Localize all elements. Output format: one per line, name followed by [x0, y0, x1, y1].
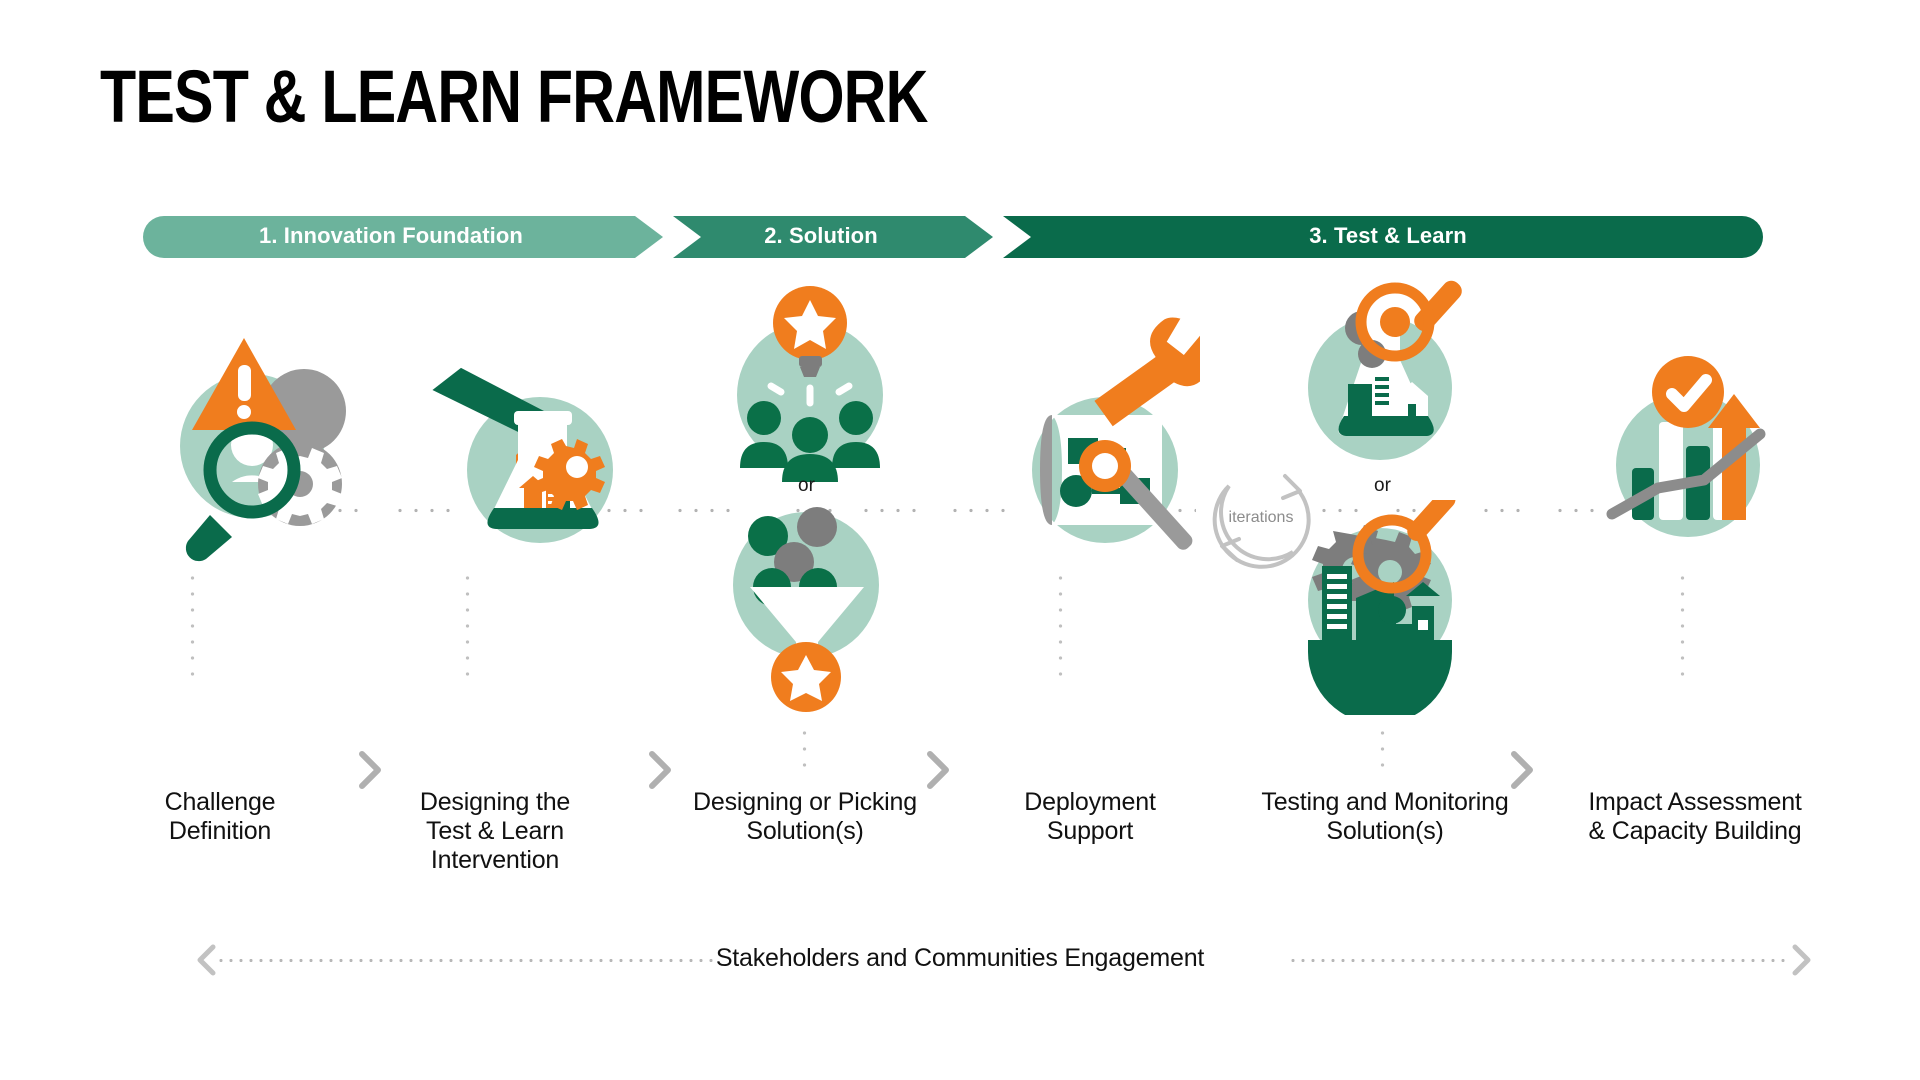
caption-testing-monitoring: Testing and MonitoringSolution(s): [1225, 788, 1545, 846]
page-title: TEST & LEARN FRAMEWORK: [100, 58, 928, 136]
or-label-testing: or: [1374, 475, 1391, 497]
step-connector-5: [1380, 725, 1385, 769]
step-icon-designing-picking-solutions[interactable]: or: [718, 270, 898, 700]
chevron-right-icon-1: [358, 750, 384, 790]
step-icon-challenge-definition[interactable]: [140, 270, 360, 700]
flow-dots-12: [1552, 508, 1604, 513]
step-icon-designing-intervention[interactable]: [420, 270, 630, 700]
process-flow: or: [0, 270, 1920, 700]
warning-magnifier-icon: [140, 270, 360, 570]
footer-label: Stakeholders and Communities Engagement: [716, 944, 1204, 973]
caption-designing-picking-solutions: Designing or PickingSolution(s): [660, 788, 950, 846]
flask-magnifier-icon: [1300, 260, 1490, 475]
arrow-left-icon: [196, 944, 218, 976]
city-gears-magnifier-icon: [1300, 500, 1490, 715]
phase-chip-2-label: 2. Solution: [764, 223, 878, 249]
phase-chip-1[interactable]: 1. Innovation Foundation: [143, 216, 663, 258]
step-connector-4: [1058, 570, 1063, 676]
blueprint-tools-icon: [1010, 270, 1200, 570]
chevron-right-icon-2: [648, 750, 674, 790]
footer-dots-right: [1288, 958, 1788, 963]
arrow-right-icon: [1790, 944, 1812, 976]
caption-impact-assessment: Impact Assessment& Capacity Building: [1550, 788, 1840, 846]
bar-chart-growth-icon: [1600, 270, 1790, 570]
caption-challenge-definition: ChallengeDefinition: [110, 788, 330, 846]
funnel-star-icon: [718, 502, 898, 717]
footer-dots-left: [216, 958, 716, 963]
caption-deployment-support: DeploymentSupport: [985, 788, 1195, 846]
step-connector-2: [465, 570, 470, 676]
phase-chip-3-label: 3. Test & Learn: [1309, 223, 1467, 249]
slide-canvas: TEST & LEARN FRAMEWORK 1. Innovation Fou…: [0, 0, 1920, 1080]
paintbrush-flask-icon: [420, 270, 630, 570]
step-connector-1: [190, 570, 195, 676]
flow-dots-7: [947, 508, 1007, 513]
phase-chip-3[interactable]: 3. Test & Learn: [1003, 216, 1763, 258]
caption-designing-intervention: Designing theTest & LearnIntervention: [385, 788, 605, 875]
engagement-footer: Stakeholders and Communities Engagement: [0, 930, 1920, 990]
or-label-solutions: or: [798, 475, 815, 497]
chevron-right-icon-3: [926, 750, 952, 790]
lightbulb-people-icon: [718, 270, 898, 485]
phase-chip-2[interactable]: 2. Solution: [673, 216, 993, 258]
step-connector-3: [802, 725, 807, 769]
step-connector-6: [1680, 570, 1685, 676]
step-icon-testing-monitoring[interactable]: or: [1300, 270, 1490, 700]
phase-chip-1-label: 1. Innovation Foundation: [259, 223, 523, 249]
phase-banner: 1. Innovation Foundation 2. Solution 3. …: [143, 216, 1763, 258]
step-icon-deployment-support[interactable]: [1010, 270, 1200, 700]
chevron-right-icon-4: [1510, 750, 1536, 790]
step-icon-impact-assessment[interactable]: [1600, 270, 1790, 700]
